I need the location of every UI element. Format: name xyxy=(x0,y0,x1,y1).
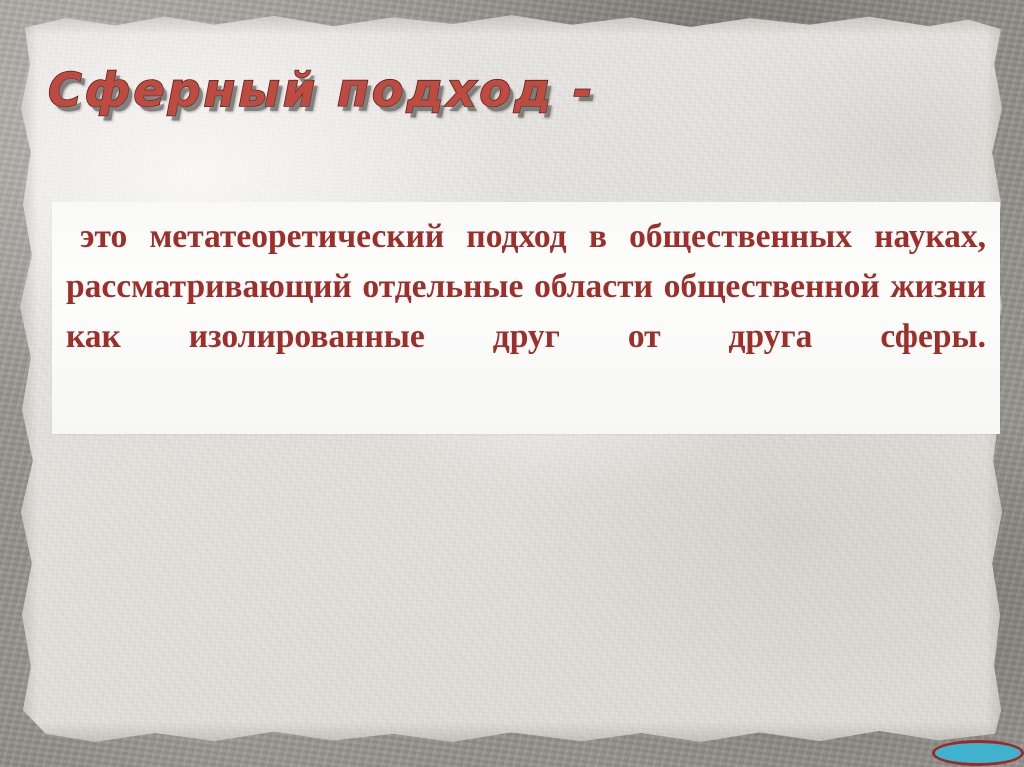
teal-ellipse-icon xyxy=(932,740,1024,766)
slide-body-text: это метатеоретический подход в обществен… xyxy=(66,212,986,412)
slide-canvas: Сферный подход - это метатеоретический п… xyxy=(0,0,1024,767)
content-text-box: это метатеоретический подход в обществен… xyxy=(52,202,1000,434)
slide-title: Сферный подход - xyxy=(48,60,948,124)
